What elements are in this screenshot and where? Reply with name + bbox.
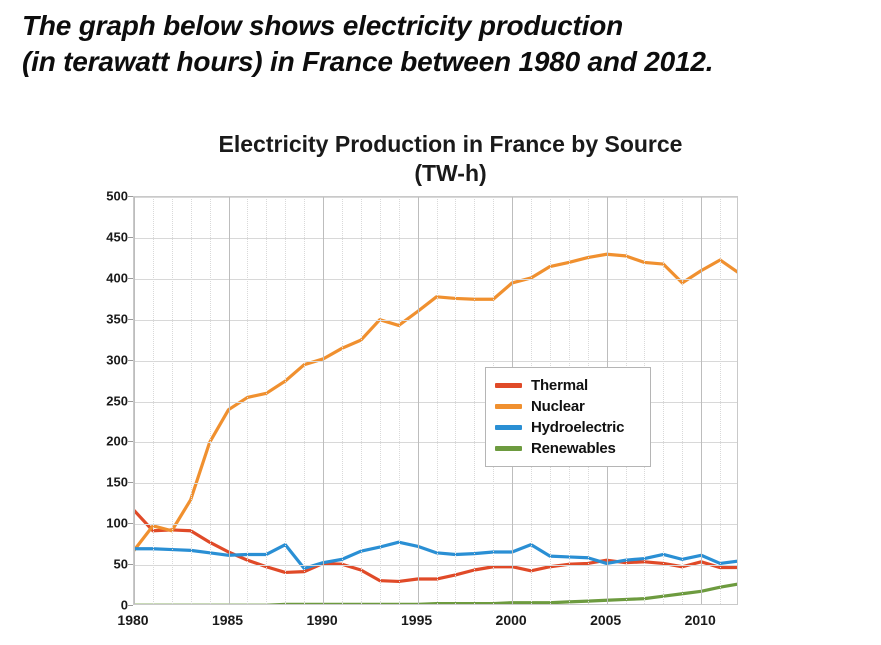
y-tick-mark bbox=[128, 605, 133, 606]
y-tick-mark bbox=[128, 237, 133, 238]
gridline-vertical-minor bbox=[266, 197, 267, 604]
gridline-vertical-minor bbox=[342, 197, 343, 604]
prompt-header-text: The graph below shows electricity produc… bbox=[22, 8, 867, 81]
y-tick-label: 300 bbox=[82, 352, 128, 367]
chart-legend: ThermalNuclearHydroelectricRenewables bbox=[485, 367, 651, 467]
gridline-vertical-minor bbox=[682, 197, 683, 604]
gridline-vertical-minor bbox=[172, 197, 173, 604]
gridline-vertical-major bbox=[701, 197, 702, 604]
legend-item-thermal[interactable]: Thermal bbox=[495, 375, 641, 396]
gridline-vertical-minor bbox=[663, 197, 664, 604]
y-tick-mark bbox=[128, 401, 133, 402]
y-tick-mark bbox=[128, 196, 133, 197]
chart-figure: Electricity Production in France by Sour… bbox=[0, 120, 881, 645]
y-tick-label: 400 bbox=[82, 270, 128, 285]
gridline-vertical-major bbox=[323, 197, 324, 604]
gridline-vertical-minor bbox=[380, 197, 381, 604]
y-axis: 050100150200250300350400450500 bbox=[80, 196, 128, 605]
legend-item-nuclear[interactable]: Nuclear bbox=[495, 396, 641, 417]
legend-swatch-icon bbox=[495, 425, 522, 430]
y-tick-label: 50 bbox=[82, 557, 128, 572]
gridline-vertical-minor bbox=[399, 197, 400, 604]
y-tick-label: 100 bbox=[82, 516, 128, 531]
y-tick-label: 450 bbox=[82, 229, 128, 244]
y-tick-mark bbox=[128, 523, 133, 524]
gridline-horizontal bbox=[134, 320, 737, 321]
y-tick-label: 0 bbox=[82, 598, 128, 613]
legend-swatch-icon bbox=[495, 404, 522, 409]
gridline-horizontal bbox=[134, 483, 737, 484]
y-tick-mark bbox=[128, 441, 133, 442]
gridline-vertical-minor bbox=[210, 197, 211, 604]
x-tick-label: 2000 bbox=[496, 612, 527, 628]
gridline-vertical-minor bbox=[247, 197, 248, 604]
y-tick-label: 500 bbox=[82, 189, 128, 204]
x-tick-label: 2010 bbox=[685, 612, 716, 628]
legend-swatch-icon bbox=[495, 446, 522, 451]
gridline-vertical-minor bbox=[191, 197, 192, 604]
gridline-horizontal bbox=[134, 524, 737, 525]
gridline-vertical-minor bbox=[285, 197, 286, 604]
gridline-vertical-minor bbox=[720, 197, 721, 604]
x-tick-label: 1985 bbox=[212, 612, 243, 628]
gridline-vertical-minor bbox=[455, 197, 456, 604]
legend-swatch-icon bbox=[495, 383, 522, 388]
gridline-vertical-minor bbox=[304, 197, 305, 604]
y-tick-label: 200 bbox=[82, 434, 128, 449]
gridline-horizontal bbox=[134, 197, 737, 198]
gridline-horizontal bbox=[134, 238, 737, 239]
gridline-horizontal bbox=[134, 279, 737, 280]
y-tick-mark bbox=[128, 319, 133, 320]
legend-item-renewables[interactable]: Renewables bbox=[495, 438, 641, 459]
legend-item-hydroelectric[interactable]: Hydroelectric bbox=[495, 417, 641, 438]
gridline-vertical-major bbox=[418, 197, 419, 604]
x-tick-label: 2005 bbox=[590, 612, 621, 628]
gridline-vertical-minor bbox=[474, 197, 475, 604]
x-tick-label: 1980 bbox=[117, 612, 148, 628]
y-tick-label: 150 bbox=[82, 475, 128, 490]
gridline-vertical-minor bbox=[153, 197, 154, 604]
chart-title: Electricity Production in France by Sour… bbox=[0, 130, 881, 188]
x-axis: 1980198519901995200020052010 bbox=[133, 612, 738, 636]
gridline-vertical-minor bbox=[437, 197, 438, 604]
y-tick-mark bbox=[128, 360, 133, 361]
legend-label: Nuclear bbox=[531, 398, 585, 415]
y-tick-mark bbox=[128, 482, 133, 483]
legend-label: Thermal bbox=[531, 377, 588, 394]
gridline-vertical-major bbox=[229, 197, 230, 604]
gridline-horizontal bbox=[134, 361, 737, 362]
gridline-vertical-major bbox=[134, 197, 135, 604]
legend-label: Renewables bbox=[531, 440, 616, 457]
y-tick-label: 250 bbox=[82, 393, 128, 408]
gridline-horizontal bbox=[134, 565, 737, 566]
x-tick-label: 1995 bbox=[401, 612, 432, 628]
y-tick-mark bbox=[128, 278, 133, 279]
gridline-vertical-minor bbox=[361, 197, 362, 604]
y-tick-label: 350 bbox=[82, 311, 128, 326]
legend-label: Hydroelectric bbox=[531, 419, 624, 436]
y-tick-mark bbox=[128, 564, 133, 565]
x-tick-label: 1990 bbox=[306, 612, 337, 628]
